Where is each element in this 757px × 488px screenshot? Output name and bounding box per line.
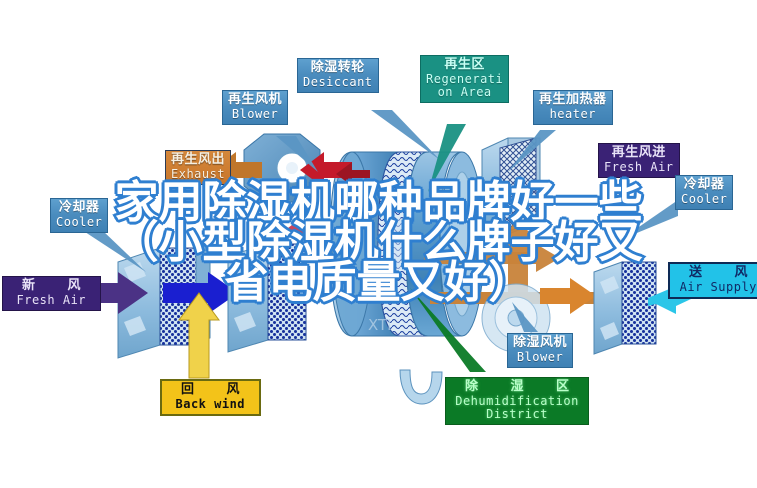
callout-dehumidification-district-cn: 除 湿 区 [451,380,583,395]
callout-dehumidification-district-en-1: Dehumidification [451,395,583,408]
headline-line-3: 省电质量又好） [0,263,757,303]
headline-overlay: 家用除湿机哪种品牌好一些 （小型除湿机什么牌子好又 省电质量又好） [0,183,757,303]
callout-regeneration-heater: 再生加热器 heater [533,90,613,125]
callout-desiccant-wheel: 除湿转轮 Desiccant [297,58,379,93]
callout-regeneration-fresh-air-cn: 再生风进 [604,146,674,161]
callout-desiccant-wheel-en: Desiccant [303,76,373,89]
callout-regeneration-area-en-1: Regenerati [426,73,503,86]
callout-regeneration-blower-cn: 再生风机 [228,93,282,108]
dehumidifier-diagram-image: XTI [0,0,757,488]
callout-back-wind-cn: 回 风 [167,383,254,398]
callout-regeneration-area: 再生区 Regenerati on Area [420,55,509,103]
callout-regeneration-blower-en: Blower [228,108,282,121]
callout-regeneration-fresh-air-en: Fresh Air [604,161,674,174]
watermark-text: XTI [368,316,392,334]
callout-back-wind-en: Back wind [167,398,254,411]
callout-dehumidification-district-en-2: District [451,408,583,421]
callout-regeneration-heater-en: heater [539,108,607,121]
callout-back-wind: 回 风 Back wind [160,379,261,416]
callout-dehumidification-district: 除 湿 区 Dehumidification District [445,377,589,425]
callout-dehumidification-blower-cn: 除湿风机 [513,336,567,351]
callout-regeneration-area-cn: 再生区 [426,58,503,73]
callout-regeneration-area-en-2: on Area [426,86,503,99]
callout-regeneration-exhaust-cn: 再生风出 [171,153,225,168]
callout-regeneration-heater-cn: 再生加热器 [539,93,607,108]
callout-regeneration-blower: 再生风机 Blower [222,90,288,125]
rotor-bottom-outlet [400,370,442,404]
callout-dehumidification-blower: 除湿风机 Blower [507,333,573,368]
callout-dehumidification-blower-en: Blower [513,351,567,364]
callout-regeneration-fresh-air: 再生风进 Fresh Air [598,143,680,178]
callout-desiccant-wheel-cn: 除湿转轮 [303,61,373,76]
